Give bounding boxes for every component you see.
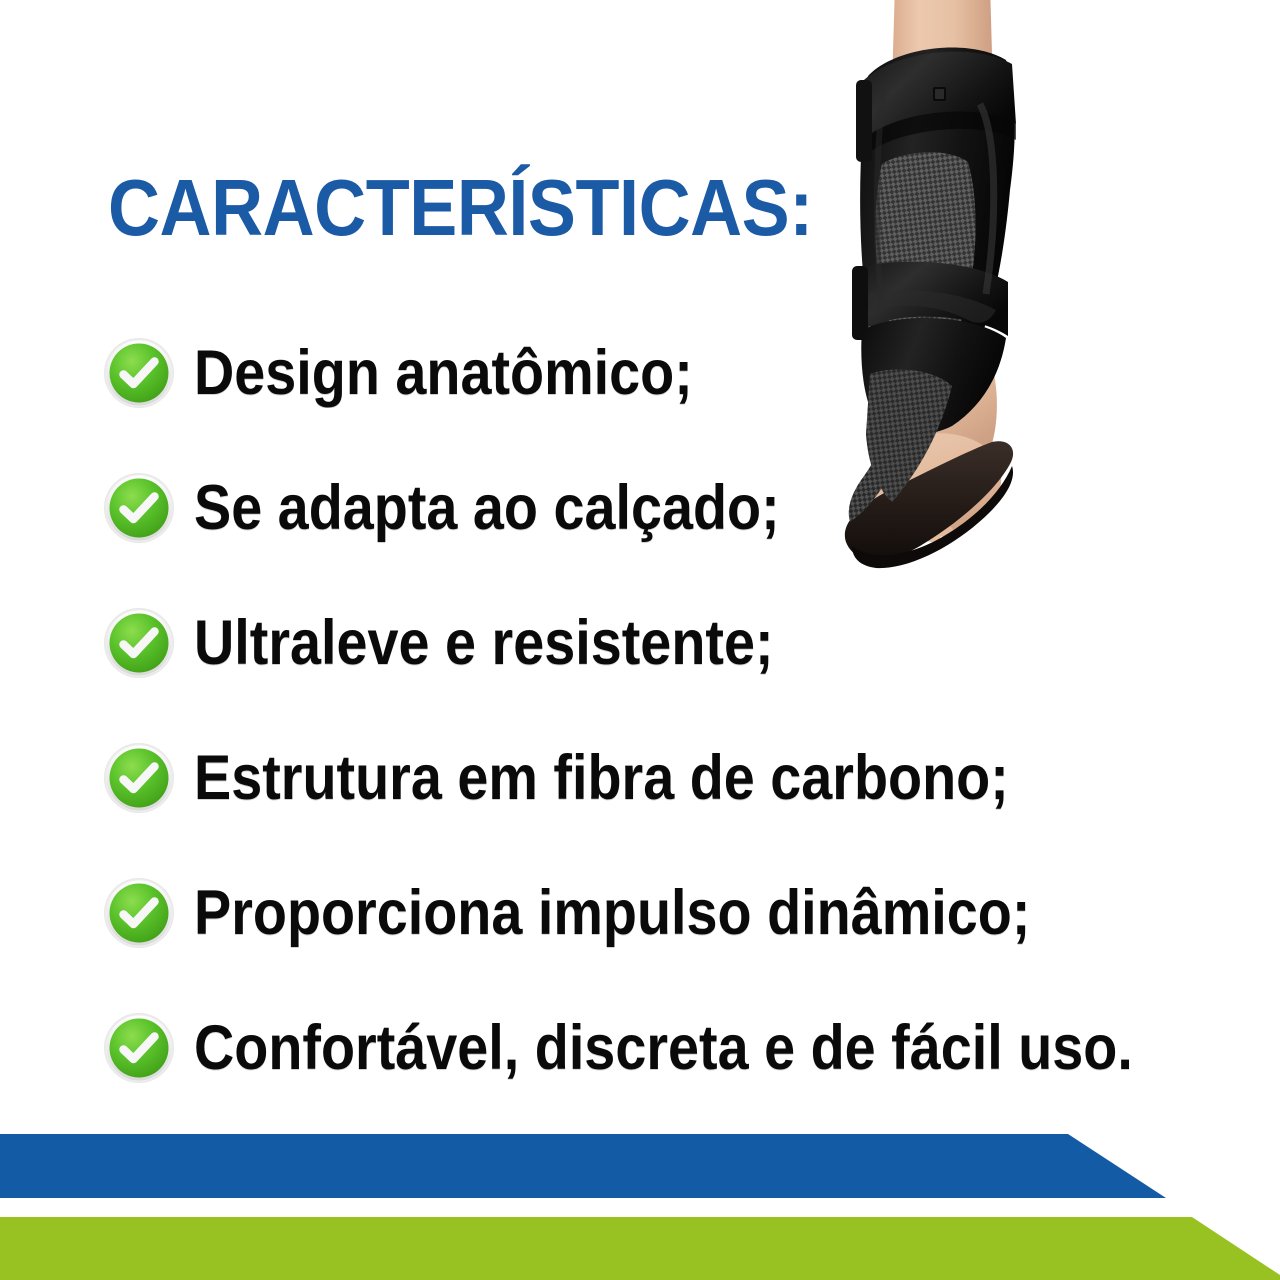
green-check-circle-icon [104,743,174,813]
list-item-label: Design anatômico; [194,342,693,405]
list-item-label: Estrutura em fibra de carbono; [194,747,1009,810]
list-item-label: Proporciona impulso dinâmico; [194,882,1030,945]
green-check-circle-icon [104,338,174,408]
list-item-label: Ultraleve e resistente; [194,612,774,675]
list-item: Estrutura em fibra de carbono; [104,741,1254,815]
page-title: CARACTERÍSTICAS: [108,168,813,248]
green-check-circle-icon [104,1013,174,1083]
footer-blue-bar [0,1134,1280,1198]
green-check-circle-icon [104,473,174,543]
green-check-circle-icon [104,878,174,948]
list-item: Proporciona impulso dinâmico; [104,876,1254,950]
footer-green-bar [0,1217,1280,1280]
list-item-label: Se adapta ao calçado; [194,477,780,540]
infographic-canvas: CARACTERÍSTICAS: [0,0,1280,1280]
list-item: Confortável, discreta e de fácil uso. [104,1011,1254,1085]
product-photo-ankle-foot-orthosis [840,0,1090,622]
green-check-circle-icon [104,608,174,678]
list-item-label: Confortável, discreta e de fácil uso. [194,1017,1133,1080]
